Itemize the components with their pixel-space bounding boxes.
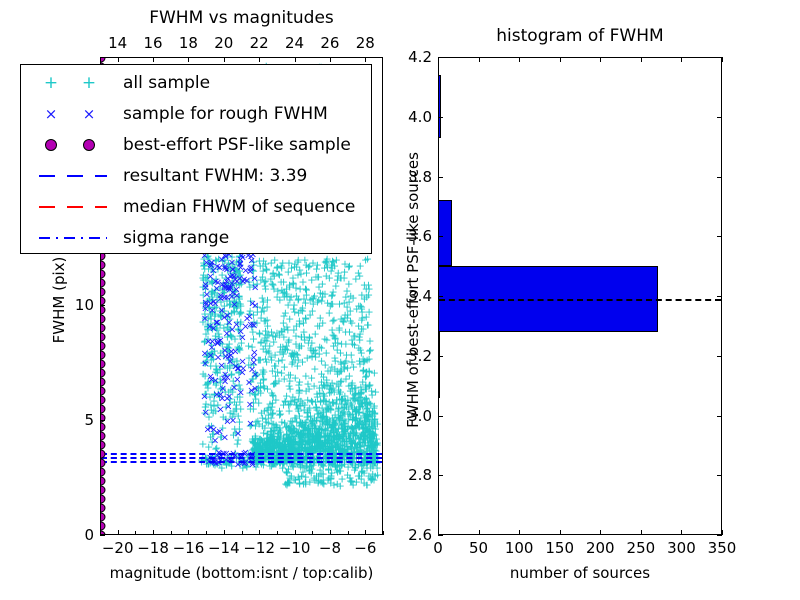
left-xtick — [118, 530, 119, 535]
scatter-point-all-sample: + — [303, 378, 312, 389]
scatter-point-all-sample: + — [325, 419, 334, 430]
scatter-point-psf-like — [101, 504, 106, 513]
scatter-point-psf-like — [101, 531, 106, 535]
right-ytick-right — [717, 57, 722, 58]
scatter-point-all-sample: + — [350, 464, 359, 475]
right-xtick-label: 250 — [627, 539, 656, 557]
right-xtick — [600, 530, 601, 535]
left-xtick-top — [259, 57, 260, 62]
scatter-point-all-sample: + — [349, 293, 358, 304]
scatter-point-rough-fwhm: × — [214, 353, 222, 364]
scatter-point-all-sample: + — [362, 311, 371, 322]
left-xtick-label: −16 — [173, 539, 205, 557]
right-xtick-label: 200 — [586, 539, 615, 557]
left-xtick-minor — [312, 531, 313, 535]
scatter-point-all-sample: + — [259, 296, 268, 307]
scatter-point-psf-like — [101, 495, 106, 504]
scatter-point-rough-fwhm: × — [201, 359, 209, 370]
right-ytick-right — [717, 535, 722, 536]
scatter-point-all-sample: + — [358, 377, 367, 388]
scatter-point-all-sample: + — [270, 254, 279, 265]
scatter-point-rough-fwhm: × — [247, 262, 255, 273]
scatter-point-rough-fwhm: × — [225, 285, 233, 296]
scatter-point-rough-fwhm: × — [227, 350, 235, 361]
right-ytick-right — [717, 416, 722, 417]
scatter-point-all-sample: + — [359, 467, 368, 478]
right-ytick — [438, 535, 443, 536]
left-xtick-minor — [242, 531, 243, 535]
right-ytick — [438, 475, 443, 476]
legend-marker-dot-icon — [27, 129, 119, 160]
right-xtick-top — [681, 57, 682, 62]
right-xtick — [560, 530, 561, 535]
legend-marker-dashed-line-icon — [27, 191, 119, 222]
scatter-point-psf-like — [101, 459, 106, 468]
scatter-point-rough-fwhm: × — [206, 372, 214, 383]
figure-canvas: FWHM vs magnitudes +++++++++++++++++++++… — [0, 0, 800, 600]
scatter-point-psf-like — [101, 477, 106, 486]
legend-item[interactable]: best-effort PSF-like sample — [27, 129, 365, 160]
scatter-point-psf-like — [101, 405, 106, 414]
scatter-point-all-sample: + — [306, 344, 315, 355]
scatter-point-all-sample: + — [274, 356, 283, 367]
scatter-point-rough-fwhm: × — [245, 377, 253, 388]
left-xtick — [188, 530, 189, 535]
legend-item-label: resultant FWHM: 3.39 — [123, 166, 307, 186]
scatter-point-rough-fwhm: × — [250, 358, 258, 369]
scatter-point-all-sample: + — [323, 365, 332, 376]
scatter-point-all-sample: + — [301, 476, 310, 487]
scatter-point-all-sample: + — [301, 313, 310, 324]
scatter-point-all-sample: + — [290, 395, 299, 406]
legend-item[interactable]: median FHWM of sequence — [27, 191, 365, 222]
scatter-point-all-sample: + — [297, 332, 306, 343]
scatter-point-all-sample: + — [333, 345, 342, 356]
right-ytick-right — [717, 296, 722, 297]
scatter-point-all-sample: + — [262, 263, 271, 274]
scatter-point-all-sample: + — [269, 391, 278, 402]
right-xtick-top — [722, 57, 723, 62]
scatter-point-rough-fwhm: × — [233, 375, 241, 386]
resultant-fwhm-dashed-line — [439, 299, 721, 301]
legend-item-label: best-effort PSF-like sample — [123, 135, 351, 155]
right-ytick — [438, 356, 443, 357]
left-xtick-top-label: 16 — [144, 34, 163, 52]
scatter-point-all-sample: + — [264, 330, 273, 341]
scatter-point-rough-fwhm: × — [246, 319, 254, 330]
left-xtick — [365, 530, 366, 535]
scatter-point-psf-like — [101, 414, 106, 423]
svg-text:+: + — [82, 73, 96, 93]
scatter-point-rough-fwhm: × — [236, 387, 244, 398]
legend-marker-plus-icon: ++ — [27, 67, 119, 98]
scatter-point-rough-fwhm: × — [225, 392, 233, 403]
left-panel-xlabel: magnitude (bottom:isnt / top:calib) — [100, 564, 383, 582]
right-xtick-top — [600, 57, 601, 62]
histogram-bar — [439, 200, 452, 266]
right-xtick — [641, 530, 642, 535]
left-xtick-minor — [383, 531, 384, 535]
scatter-point-psf-like — [101, 351, 106, 360]
left-xtick-top — [224, 57, 225, 62]
scatter-point-all-sample: + — [333, 368, 342, 379]
scatter-point-all-sample: + — [358, 396, 367, 407]
scatter-point-psf-like — [101, 441, 106, 450]
right-xtick-top — [560, 57, 561, 62]
scatter-point-all-sample: + — [317, 296, 326, 307]
scatter-point-psf-like — [101, 279, 106, 288]
scatter-point-all-sample: + — [357, 290, 366, 301]
scatter-point-rough-fwhm: × — [209, 266, 217, 277]
scatter-point-rough-fwhm: × — [239, 276, 247, 287]
scatter-point-all-sample: + — [315, 320, 324, 331]
left-xtick — [153, 530, 154, 535]
scatter-point-all-sample: + — [254, 418, 263, 429]
scatter-point-psf-like — [101, 270, 106, 279]
scatter-point-all-sample: + — [286, 369, 295, 380]
scatter-point-all-sample: + — [330, 333, 339, 344]
left-xtick-minor — [171, 531, 172, 535]
scatter-point-psf-like — [101, 513, 106, 522]
scatter-point-all-sample: + — [285, 477, 294, 488]
svg-text:+: + — [44, 73, 58, 93]
scatter-point-rough-fwhm: × — [230, 299, 238, 310]
scatter-point-all-sample: + — [358, 324, 367, 335]
right-xtick — [519, 530, 520, 535]
left-ytick — [100, 535, 105, 536]
left-panel-title: FWHM vs magnitudes — [100, 8, 383, 28]
left-xtick-top — [153, 57, 154, 62]
sigma-range-line — [101, 461, 382, 463]
scatter-point-psf-like — [101, 369, 106, 378]
scatter-point-rough-fwhm: × — [238, 333, 246, 344]
left-xtick-top-label: 22 — [250, 34, 269, 52]
right-xtick-top — [479, 57, 480, 62]
scatter-point-psf-like — [101, 342, 106, 351]
scatter-point-all-sample: + — [292, 261, 301, 272]
scatter-point-all-sample: + — [356, 261, 365, 272]
scatter-point-all-sample: + — [333, 270, 342, 281]
legend-item[interactable]: ++all sample — [27, 67, 365, 98]
right-ytick — [438, 236, 443, 237]
right-xtick — [722, 530, 723, 535]
right-ytick — [438, 177, 443, 178]
left-xtick-top-label: 14 — [108, 34, 127, 52]
scatter-point-psf-like — [101, 324, 106, 333]
resultant-fwhm-line — [101, 457, 382, 459]
legend-item[interactable]: sigma range — [27, 222, 365, 253]
scatter-point-rough-fwhm: × — [223, 416, 231, 427]
scatter-point-all-sample: + — [332, 255, 341, 266]
left-xtick-label: −20 — [102, 539, 134, 557]
scatter-point-rough-fwhm: × — [221, 376, 229, 387]
scatter-point-all-sample: + — [279, 332, 288, 343]
scatter-point-all-sample: + — [321, 257, 330, 268]
right-ytick-right — [717, 236, 722, 237]
scatter-point-all-sample: + — [320, 334, 329, 345]
scatter-point-psf-like — [101, 396, 106, 405]
left-ytick — [100, 305, 105, 306]
left-xtick-top — [188, 57, 189, 62]
scatter-point-all-sample: + — [328, 316, 337, 327]
scatter-point-all-sample: + — [271, 371, 280, 382]
right-xtick-top — [641, 57, 642, 62]
svg-text:×: × — [45, 105, 58, 123]
left-xtick-label: −8 — [319, 539, 341, 557]
left-xtick-top — [330, 57, 331, 62]
left-xtick-minor — [277, 531, 278, 535]
left-xtick-label: −6 — [354, 539, 376, 557]
scatter-point-all-sample: + — [265, 347, 274, 358]
scatter-point-all-sample: + — [356, 344, 365, 355]
scatter-point-rough-fwhm: × — [223, 311, 231, 322]
scatter-point-psf-like — [101, 333, 106, 342]
right-xtick-top — [519, 57, 520, 62]
scatter-point-psf-like — [101, 315, 106, 324]
scatter-point-all-sample: + — [309, 473, 318, 484]
histogram-bar — [439, 332, 440, 398]
left-xtick-minor — [135, 531, 136, 535]
left-ytick-label: 5 — [54, 411, 94, 429]
right-xtick-label: 0 — [433, 539, 443, 557]
scatter-point-psf-like — [101, 261, 106, 270]
scatter-point-rough-fwhm: × — [212, 283, 220, 294]
right-ytick-right — [717, 177, 722, 178]
legend-item[interactable]: ××sample for rough FWHM — [27, 98, 365, 129]
scatter-point-all-sample: + — [319, 406, 328, 417]
right-ytick — [438, 416, 443, 417]
left-xtick — [224, 530, 225, 535]
scatter-point-all-sample: + — [354, 420, 363, 431]
scatter-point-all-sample: + — [337, 474, 346, 485]
legend-marker-dashdot-line-icon — [27, 222, 119, 253]
legend-item-label: sigma range — [123, 228, 229, 248]
left-xtick-top-label: 26 — [320, 34, 339, 52]
right-panel-title: histogram of FWHM — [438, 26, 722, 46]
left-xtick — [259, 530, 260, 535]
scatter-point-psf-like — [101, 360, 106, 369]
scatter-point-all-sample: + — [343, 310, 352, 321]
legend-item-label: all sample — [123, 73, 210, 93]
scatter-point-psf-like — [101, 423, 106, 432]
scatter-point-rough-fwhm: × — [200, 392, 208, 403]
scatter-point-all-sample: + — [275, 269, 284, 280]
scatter-point-all-sample: + — [249, 333, 258, 344]
svg-text:×: × — [83, 105, 96, 123]
left-xtick-top-label: 28 — [356, 34, 375, 52]
scatter-point-rough-fwhm: × — [238, 357, 246, 368]
scatter-point-rough-fwhm: × — [246, 400, 254, 411]
scatter-point-rough-fwhm: × — [216, 405, 224, 416]
right-xtick-label: 300 — [667, 539, 696, 557]
scatter-point-rough-fwhm: × — [234, 428, 242, 439]
left-xtick-top-label: 20 — [214, 34, 233, 52]
left-xtick-top-label: 24 — [285, 34, 304, 52]
left-xtick-minor — [206, 531, 207, 535]
right-ytick — [438, 117, 443, 118]
right-ytick-label: 2.6 — [388, 526, 432, 544]
legend-marker-dashed-line-icon — [27, 160, 119, 191]
left-xtick-label: −18 — [137, 539, 169, 557]
scatter-point-rough-fwhm: × — [207, 422, 215, 433]
scatter-point-all-sample: + — [341, 326, 350, 337]
right-panel-ylabel: FWHM of best-effort PSF-like sources — [404, 60, 422, 520]
histogram-bar — [439, 75, 441, 138]
scatter-point-all-sample: + — [264, 410, 273, 421]
right-xtick-label: 100 — [505, 539, 534, 557]
scatter-point-all-sample: + — [299, 422, 308, 433]
sigma-range-line — [101, 453, 382, 455]
scatter-point-all-sample: + — [332, 394, 341, 405]
scatter-point-all-sample: + — [285, 280, 294, 291]
scatter-point-rough-fwhm: × — [210, 296, 218, 307]
legend-item-label: sample for rough FWHM — [123, 104, 328, 124]
left-xtick-minor — [348, 531, 349, 535]
scatter-point-all-sample: + — [287, 421, 296, 432]
right-ytick-right — [717, 356, 722, 357]
legend-item-label: median FHWM of sequence — [123, 197, 355, 217]
left-xtick-top-label: 18 — [179, 34, 198, 52]
scatter-point-all-sample: + — [319, 479, 328, 490]
scatter-point-all-sample: + — [302, 259, 311, 270]
scatter-point-psf-like — [101, 522, 106, 531]
scatter-point-psf-like — [101, 297, 106, 306]
scatter-point-all-sample: + — [365, 345, 374, 356]
scatter-point-rough-fwhm: × — [228, 325, 236, 336]
left-xtick — [295, 530, 296, 535]
scatter-point-all-sample: + — [303, 395, 312, 406]
scatter-point-all-sample: + — [254, 397, 263, 408]
scatter-point-rough-fwhm: × — [221, 432, 229, 443]
legend-box[interactable]: ++all sample××sample for rough FWHMbest-… — [20, 64, 372, 254]
right-xtick-label: 50 — [469, 539, 488, 557]
left-xtick-label: −10 — [279, 539, 311, 557]
left-xtick-top — [118, 57, 119, 62]
scatter-point-psf-like — [101, 432, 106, 441]
scatter-point-all-sample: + — [310, 413, 319, 424]
right-panel-plot-area — [439, 58, 721, 534]
legend-marker-x-icon: ×× — [27, 98, 119, 129]
scatter-point-rough-fwhm: × — [212, 318, 220, 329]
right-xtick-label: 150 — [545, 539, 574, 557]
scatter-point-psf-like — [101, 486, 106, 495]
scatter-point-psf-like — [101, 288, 106, 297]
scatter-point-all-sample: + — [287, 348, 296, 359]
left-ytick — [100, 420, 105, 421]
left-xtick-top — [295, 57, 296, 62]
scatter-point-all-sample: + — [299, 293, 308, 304]
scatter-point-rough-fwhm: × — [201, 407, 209, 418]
right-xtick — [479, 530, 480, 535]
right-ytick-right — [717, 117, 722, 118]
scatter-point-psf-like — [101, 378, 106, 387]
left-xtick-label: −14 — [208, 539, 240, 557]
scatter-point-psf-like — [101, 387, 106, 396]
scatter-point-all-sample: + — [340, 416, 349, 427]
right-ytick-right — [717, 475, 722, 476]
scatter-point-rough-fwhm: × — [224, 401, 232, 412]
right-xtick — [681, 530, 682, 535]
right-xtick-label: 350 — [708, 539, 737, 557]
right-panel-xlabel: number of sources — [438, 564, 722, 582]
scatter-point-all-sample: + — [324, 433, 333, 444]
scatter-point-all-sample: + — [258, 365, 267, 376]
left-ytick-label: 0 — [54, 526, 94, 544]
scatter-point-all-sample: + — [350, 330, 359, 341]
right-ytick — [438, 57, 443, 58]
left-xtick-label: −12 — [243, 539, 275, 557]
scatter-point-psf-like — [101, 306, 106, 315]
scatter-point-rough-fwhm: × — [246, 418, 254, 429]
left-xtick — [330, 530, 331, 535]
left-xtick-top — [365, 57, 366, 62]
scatter-point-rough-fwhm: × — [201, 314, 209, 325]
legend-item[interactable]: resultant FWHM: 3.39 — [27, 160, 365, 191]
scatter-point-rough-fwhm: × — [213, 389, 221, 400]
scatter-point-psf-like — [101, 468, 106, 477]
right-ytick — [438, 296, 443, 297]
